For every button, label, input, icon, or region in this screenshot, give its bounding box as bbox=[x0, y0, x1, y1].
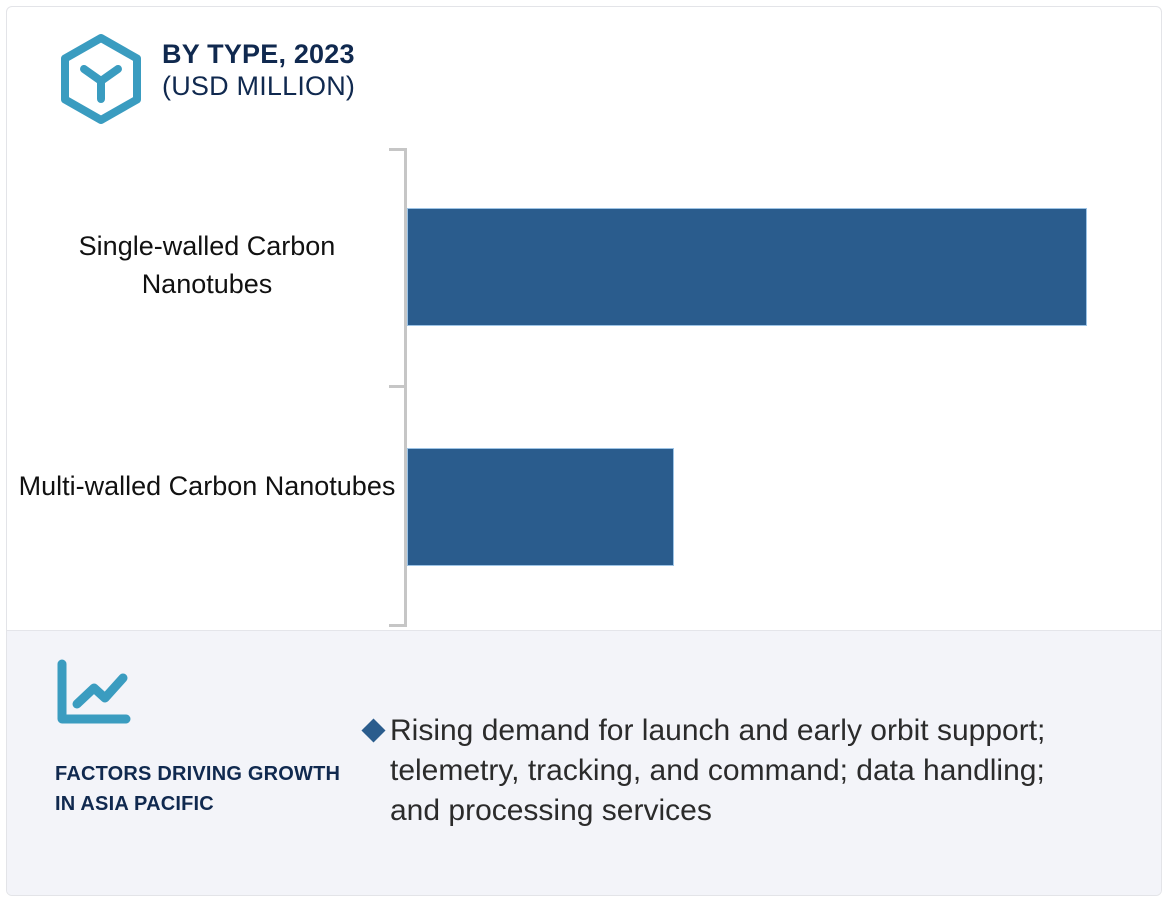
hexagon-y-logo-icon bbox=[55, 33, 147, 125]
page-subtitle: (USD MILLION) bbox=[162, 71, 355, 103]
list-item: Rising demand for launch and early orbit… bbox=[365, 711, 1095, 831]
axis-tick-middle bbox=[389, 385, 407, 388]
header-section: BY TYPE, 2023 (USD MILLION) bbox=[7, 7, 1161, 137]
bar-multi-walled bbox=[407, 448, 674, 566]
axis-tick-top bbox=[389, 148, 407, 151]
category-label: Single-walled Carbon Nanotubes bbox=[17, 227, 397, 304]
category-label: Multi-walled Carbon Nanotubes bbox=[17, 467, 397, 505]
bar-single-walled bbox=[407, 208, 1087, 326]
diamond-bullet-icon bbox=[361, 718, 385, 742]
infographic-card: BY TYPE, 2023 (USD MILLION) Single-walle… bbox=[6, 6, 1162, 896]
bullet-list: Rising demand for launch and early orbit… bbox=[365, 711, 1095, 831]
footer-panel: FACTORS DRIVING GROWTH IN ASIA PACIFIC R… bbox=[7, 630, 1161, 896]
line-chart-icon bbox=[55, 658, 131, 726]
footer-heading: FACTORS DRIVING GROWTH IN ASIA PACIFIC bbox=[55, 759, 355, 820]
bar-chart: Single-walled Carbon Nanotubes Multi-wal… bbox=[7, 137, 1161, 636]
header-text-block: BY TYPE, 2023 (USD MILLION) bbox=[162, 39, 355, 103]
bullet-text: Rising demand for launch and early orbit… bbox=[390, 711, 1095, 831]
page-title: BY TYPE, 2023 bbox=[162, 39, 355, 71]
axis-tick-bottom bbox=[389, 624, 407, 627]
